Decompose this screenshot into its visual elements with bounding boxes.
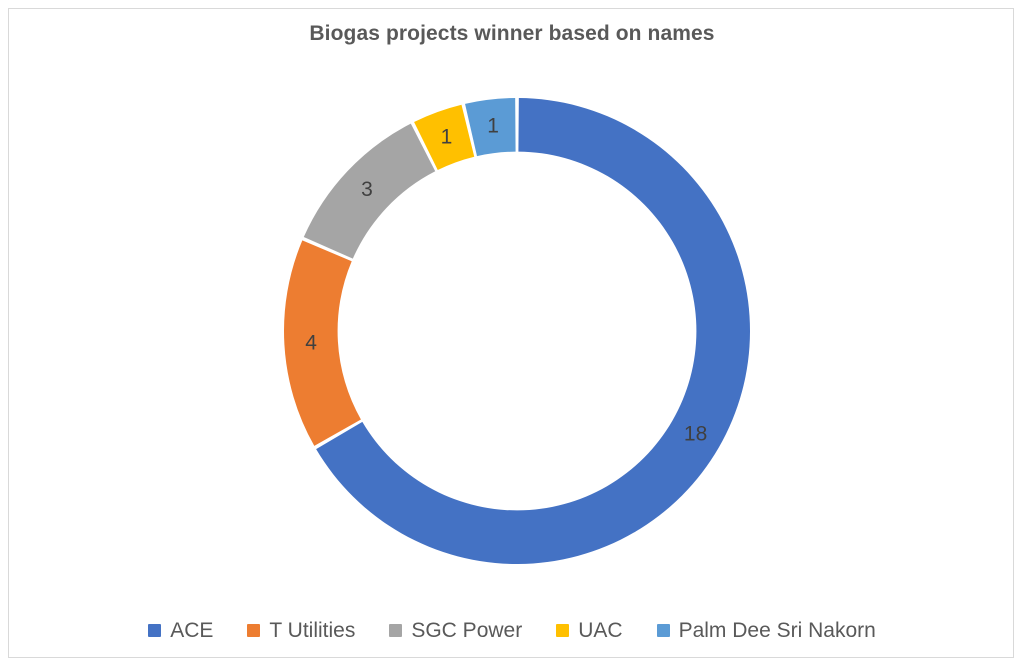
donut-slice-data-label: 18	[684, 423, 707, 446]
legend-color-swatch-icon	[556, 624, 569, 637]
legend-item-label: Palm Dee Sri Nakorn	[679, 620, 876, 641]
donut-slice[interactable]	[284, 240, 361, 446]
legend-color-swatch-icon	[657, 624, 670, 637]
legend-item-label: UAC	[578, 620, 622, 641]
legend-color-swatch-icon	[148, 624, 161, 637]
donut-slice-data-label: 1	[487, 115, 499, 138]
donut-slice-data-label: 4	[305, 331, 317, 354]
donut-chart-svg: 184311	[283, 97, 751, 565]
donut-slice-data-label: 1	[441, 126, 453, 149]
legend-item-label: SGC Power	[411, 620, 522, 641]
chart-legend: ACET UtilitiesSGC PowerUACPalm Dee Sri N…	[0, 620, 1024, 641]
legend-item[interactable]: SGC Power	[389, 620, 522, 641]
legend-color-swatch-icon	[247, 624, 260, 637]
legend-item[interactable]: ACE	[148, 620, 213, 641]
legend-item[interactable]: Palm Dee Sri Nakorn	[657, 620, 876, 641]
legend-item-label: T Utilities	[269, 620, 355, 641]
legend-item[interactable]: T Utilities	[247, 620, 355, 641]
chart-screenshot: Biogas projects winner based on names 18…	[0, 0, 1024, 672]
legend-item[interactable]: UAC	[556, 620, 622, 641]
legend-item-label: ACE	[170, 620, 213, 641]
legend-color-swatch-icon	[389, 624, 402, 637]
chart-title: Biogas projects winner based on names	[0, 22, 1024, 46]
donut-slice-data-label: 3	[361, 178, 373, 201]
donut-slices-group	[284, 98, 750, 564]
donut-chart-plot-area: 184311	[283, 97, 751, 565]
